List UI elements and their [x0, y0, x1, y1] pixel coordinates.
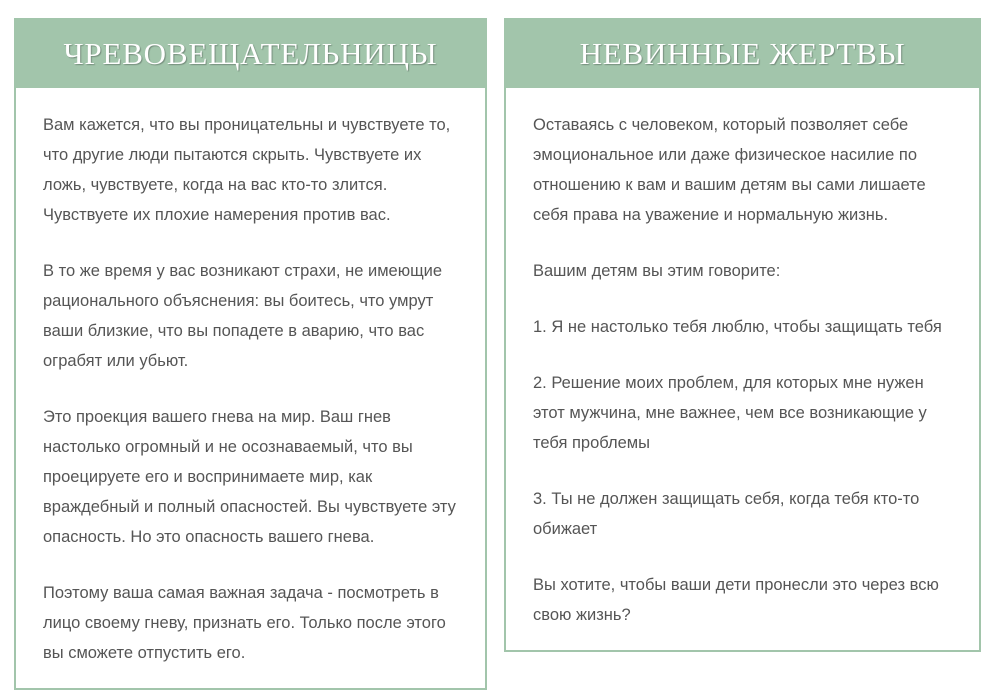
list-item: 3. Ты не должен защищать себя, когда теб… — [533, 484, 953, 544]
card-body-ventriloquists: Вам кажется, что вы проницательны и чувс… — [14, 88, 487, 690]
paragraph: Поэтому ваша самая важная задача - посмо… — [43, 578, 459, 668]
paragraph: Вам кажется, что вы проницательны и чувс… — [43, 110, 459, 230]
card-header-innocent-victims: НЕВИННЫЕ ЖЕРТВЫ — [504, 18, 981, 88]
paragraph: В то же время у вас возникают страхи, не… — [43, 256, 459, 376]
card-title-ventriloquists: ЧРЕВОВЕЩАТЕЛЬНИЦЫ — [63, 38, 437, 69]
list-item: 2. Решение моих проблем, для которых мне… — [533, 368, 953, 458]
card-ventriloquists: ЧРЕВОВЕЩАТЕЛЬНИЦЫ Вам кажется, что вы пр… — [14, 18, 487, 690]
card-header-ventriloquists: ЧРЕВОВЕЩАТЕЛЬНИЦЫ — [14, 18, 487, 88]
paragraph: Вы хотите, чтобы ваши дети пронесли это … — [533, 570, 953, 630]
list-item: 1. Я не настолько тебя люблю, чтобы защи… — [533, 312, 953, 342]
two-column-card-board: ЧРЕВОВЕЩАТЕЛЬНИЦЫ Вам кажется, что вы пр… — [0, 0, 996, 650]
paragraph: Оставаясь с человеком, который позволяет… — [533, 110, 953, 230]
paragraph: Вашим детям вы этим говорите: — [533, 256, 953, 286]
card-innocent-victims: НЕВИННЫЕ ЖЕРТВЫ Оставаясь с человеком, к… — [504, 18, 981, 652]
card-title-innocent-victims: НЕВИННЫЕ ЖЕРТВЫ — [580, 38, 906, 69]
card-body-innocent-victims: Оставаясь с человеком, который позволяет… — [504, 88, 981, 652]
paragraph: Это проекция вашего гнева на мир. Ваш гн… — [43, 402, 459, 552]
